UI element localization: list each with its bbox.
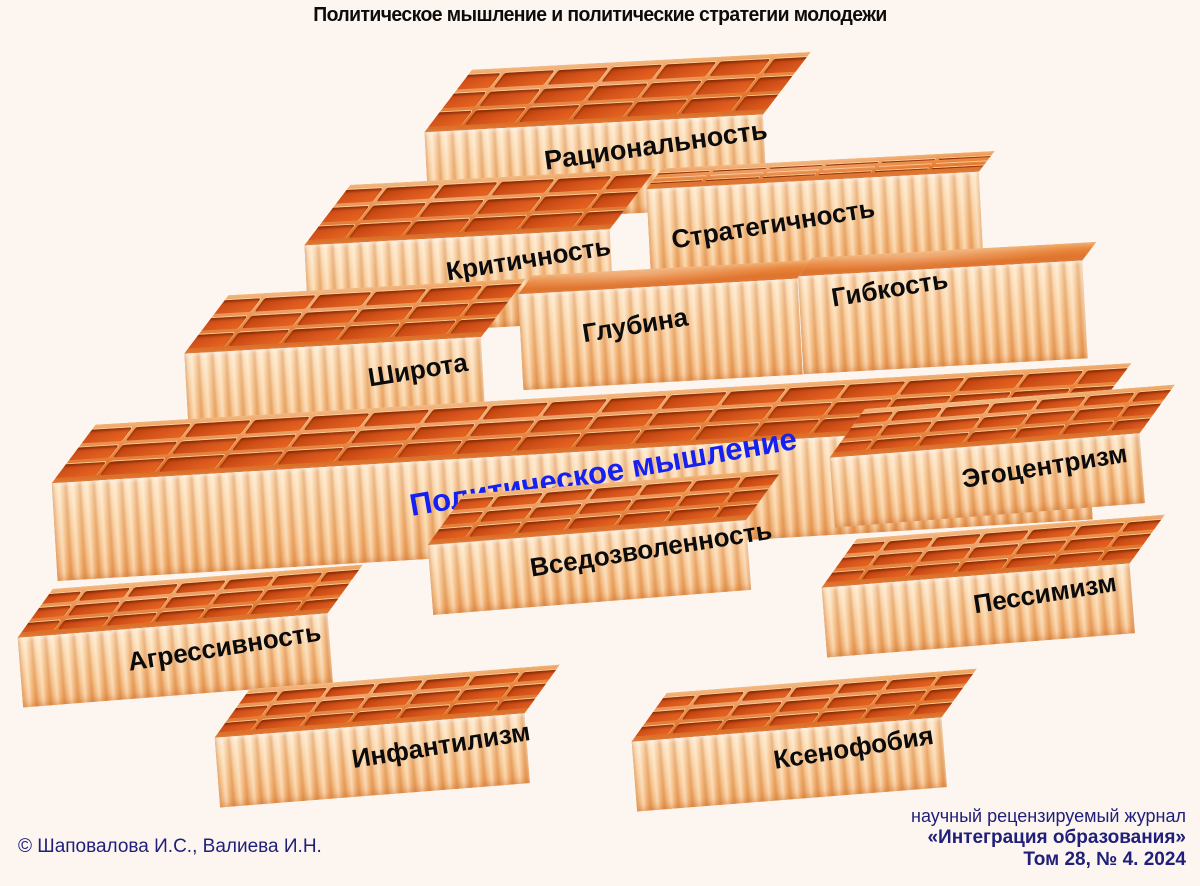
brick-front-face	[798, 261, 1088, 375]
brick-perforations	[399, 51, 836, 134]
brick-perforations	[280, 168, 681, 247]
journal-issue: Том 28, № 4. 2024	[911, 849, 1186, 871]
pyramid-brick-flexibility: Гибкость	[797, 242, 1103, 375]
brick-perforations	[160, 277, 549, 355]
journal-name: «Интеграция образования»	[911, 827, 1186, 849]
poster-canvas: Политическое мышление и политические стр…	[0, 0, 1200, 886]
page-title: Политическое мышление и политические стр…	[18, 4, 1182, 27]
brick-front-face	[518, 279, 803, 390]
pyramid-brick-depth: Глубина	[517, 260, 818, 390]
journal-kind: научный рецензируемый журнал	[911, 806, 1186, 827]
scattered-brick-pessimism: Пессимизм	[818, 515, 1174, 658]
journal-info: научный рецензируемый журнал «Интеграция…	[911, 806, 1186, 871]
scattered-brick-xenophobia: Ксенофобия	[628, 668, 986, 811]
copyright-notice: © Шаповалова И.С., Валиева И.Н.	[18, 836, 322, 858]
